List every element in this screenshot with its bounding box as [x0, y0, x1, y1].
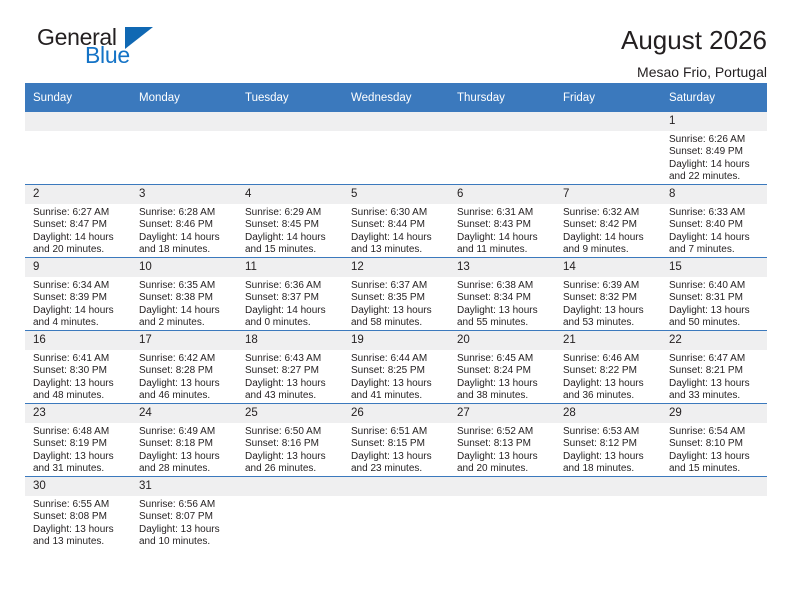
calendar-day-cell[interactable]: 11Sunrise: 6:36 AMSunset: 8:37 PMDayligh… [237, 258, 343, 331]
daylight-duration-line1: Daylight: 13 hours [351, 451, 443, 463]
daylight-duration-line2: and 36 minutes. [563, 390, 655, 402]
calendar-week-row: 1Sunrise: 6:26 AMSunset: 8:49 PMDaylight… [25, 112, 767, 185]
sunset-time: Sunset: 8:38 PM [139, 292, 231, 304]
sunset-time: Sunset: 8:31 PM [669, 292, 761, 304]
calendar-day-cell[interactable]: 3Sunrise: 6:28 AMSunset: 8:46 PMDaylight… [131, 185, 237, 258]
day-number: 17 [131, 331, 237, 350]
sunset-time: Sunset: 8:47 PM [33, 219, 125, 231]
sunset-time: Sunset: 8:18 PM [139, 438, 231, 450]
day-info: Sunrise: 6:47 AMSunset: 8:21 PMDaylight:… [661, 350, 767, 403]
sunset-time: Sunset: 8:19 PM [33, 438, 125, 450]
calendar-day-cell[interactable]: 27Sunrise: 6:52 AMSunset: 8:13 PMDayligh… [449, 404, 555, 477]
calendar-day-cell-empty [555, 112, 661, 185]
day-number: 14 [555, 258, 661, 277]
weekday-header-tuesday: Tuesday [237, 83, 343, 112]
calendar-day-cell[interactable]: 20Sunrise: 6:45 AMSunset: 8:24 PMDayligh… [449, 331, 555, 404]
sunset-time: Sunset: 8:43 PM [457, 219, 549, 231]
daylight-duration-line2: and 53 minutes. [563, 317, 655, 329]
calendar-week-row: 30Sunrise: 6:55 AMSunset: 8:08 PMDayligh… [25, 477, 767, 550]
sunset-time: Sunset: 8:13 PM [457, 438, 549, 450]
calendar-day-cell[interactable]: 5Sunrise: 6:30 AMSunset: 8:44 PMDaylight… [343, 185, 449, 258]
daylight-duration-line2: and 22 minutes. [669, 171, 761, 183]
weekday-header-thursday: Thursday [449, 83, 555, 112]
daylight-duration-line1: Daylight: 13 hours [351, 378, 443, 390]
day-number: 1 [661, 112, 767, 131]
calendar-day-cell[interactable]: 6Sunrise: 6:31 AMSunset: 8:43 PMDaylight… [449, 185, 555, 258]
sunrise-time: Sunrise: 6:28 AM [139, 207, 231, 219]
day-number: 28 [555, 404, 661, 423]
day-info: Sunrise: 6:31 AMSunset: 8:43 PMDaylight:… [449, 204, 555, 257]
daylight-duration-line1: Daylight: 13 hours [669, 451, 761, 463]
daylight-duration-line1: Daylight: 13 hours [245, 378, 337, 390]
day-number: 26 [343, 404, 449, 423]
sunset-time: Sunset: 8:22 PM [563, 365, 655, 377]
calendar-day-cell[interactable]: 23Sunrise: 6:48 AMSunset: 8:19 PMDayligh… [25, 404, 131, 477]
daylight-duration-line1: Daylight: 14 hours [669, 232, 761, 244]
sunset-time: Sunset: 8:39 PM [33, 292, 125, 304]
sunrise-time: Sunrise: 6:45 AM [457, 353, 549, 365]
day-number [343, 112, 449, 131]
sunset-time: Sunset: 8:28 PM [139, 365, 231, 377]
day-number [131, 112, 237, 131]
calendar-day-cell[interactable]: 18Sunrise: 6:43 AMSunset: 8:27 PMDayligh… [237, 331, 343, 404]
weekday-header-monday: Monday [131, 83, 237, 112]
daylight-duration-line1: Daylight: 13 hours [33, 378, 125, 390]
sunset-time: Sunset: 8:24 PM [457, 365, 549, 377]
day-info: Sunrise: 6:44 AMSunset: 8:25 PMDaylight:… [343, 350, 449, 403]
weekday-header-row: Sunday Monday Tuesday Wednesday Thursday… [25, 83, 767, 112]
calendar-day-cell[interactable]: 9Sunrise: 6:34 AMSunset: 8:39 PMDaylight… [25, 258, 131, 331]
general-blue-logo[interactable]: General Blue [25, 22, 165, 70]
sunrise-time: Sunrise: 6:41 AM [33, 353, 125, 365]
daylight-duration-line1: Daylight: 13 hours [563, 451, 655, 463]
day-info: Sunrise: 6:29 AMSunset: 8:45 PMDaylight:… [237, 204, 343, 257]
calendar-week-row: 9Sunrise: 6:34 AMSunset: 8:39 PMDaylight… [25, 258, 767, 331]
calendar-day-cell[interactable]: 30Sunrise: 6:55 AMSunset: 8:08 PMDayligh… [25, 477, 131, 550]
daylight-duration-line1: Daylight: 14 hours [245, 305, 337, 317]
daylight-duration-line2: and 2 minutes. [139, 317, 231, 329]
sunset-time: Sunset: 8:25 PM [351, 365, 443, 377]
sunrise-time: Sunrise: 6:39 AM [563, 280, 655, 292]
daylight-duration-line1: Daylight: 14 hours [245, 232, 337, 244]
calendar-day-cell-empty [661, 477, 767, 550]
day-info: Sunrise: 6:51 AMSunset: 8:15 PMDaylight:… [343, 423, 449, 476]
sunrise-time: Sunrise: 6:47 AM [669, 353, 761, 365]
sunrise-time: Sunrise: 6:56 AM [139, 499, 231, 511]
daylight-duration-line1: Daylight: 14 hours [351, 232, 443, 244]
day-info: Sunrise: 6:55 AMSunset: 8:08 PMDaylight:… [25, 496, 131, 549]
sunset-time: Sunset: 8:42 PM [563, 219, 655, 231]
day-number: 21 [555, 331, 661, 350]
sunrise-time: Sunrise: 6:54 AM [669, 426, 761, 438]
daylight-duration-line2: and 58 minutes. [351, 317, 443, 329]
daylight-duration-line1: Daylight: 13 hours [139, 524, 231, 536]
day-info: Sunrise: 6:53 AMSunset: 8:12 PMDaylight:… [555, 423, 661, 476]
daylight-duration-line2: and 20 minutes. [457, 463, 549, 475]
day-info: Sunrise: 6:32 AMSunset: 8:42 PMDaylight:… [555, 204, 661, 257]
page-title: August 2026 [621, 24, 767, 56]
daylight-duration-line1: Daylight: 14 hours [33, 232, 125, 244]
daylight-duration-line2: and 26 minutes. [245, 463, 337, 475]
daylight-duration-line2: and 7 minutes. [669, 244, 761, 256]
sunset-time: Sunset: 8:44 PM [351, 219, 443, 231]
daylight-duration-line2: and 0 minutes. [245, 317, 337, 329]
daylight-duration-line2: and 38 minutes. [457, 390, 549, 402]
day-info: Sunrise: 6:48 AMSunset: 8:19 PMDaylight:… [25, 423, 131, 476]
calendar-day-cell[interactable]: 1Sunrise: 6:26 AMSunset: 8:49 PMDaylight… [661, 112, 767, 185]
sunrise-time: Sunrise: 6:33 AM [669, 207, 761, 219]
day-info: Sunrise: 6:42 AMSunset: 8:28 PMDaylight:… [131, 350, 237, 403]
daylight-duration-line2: and 18 minutes. [563, 463, 655, 475]
day-number [449, 112, 555, 131]
daylight-duration-line2: and 31 minutes. [33, 463, 125, 475]
sunrise-time: Sunrise: 6:34 AM [33, 280, 125, 292]
day-info: Sunrise: 6:26 AMSunset: 8:49 PMDaylight:… [661, 131, 767, 184]
sunset-time: Sunset: 8:10 PM [669, 438, 761, 450]
day-number: 25 [237, 404, 343, 423]
day-info: Sunrise: 6:38 AMSunset: 8:34 PMDaylight:… [449, 277, 555, 330]
daylight-duration-line1: Daylight: 13 hours [139, 378, 231, 390]
calendar-day-cell[interactable]: 13Sunrise: 6:38 AMSunset: 8:34 PMDayligh… [449, 258, 555, 331]
day-info: Sunrise: 6:46 AMSunset: 8:22 PMDaylight:… [555, 350, 661, 403]
daylight-duration-line1: Daylight: 14 hours [669, 159, 761, 171]
calendar-day-cell[interactable]: 16Sunrise: 6:41 AMSunset: 8:30 PMDayligh… [25, 331, 131, 404]
day-info: Sunrise: 6:37 AMSunset: 8:35 PMDaylight:… [343, 277, 449, 330]
sunset-time: Sunset: 8:46 PM [139, 219, 231, 231]
day-number: 30 [25, 477, 131, 496]
daylight-duration-line1: Daylight: 14 hours [33, 305, 125, 317]
sunrise-time: Sunrise: 6:36 AM [245, 280, 337, 292]
daylight-duration-line2: and 23 minutes. [351, 463, 443, 475]
daylight-duration-line2: and 10 minutes. [139, 536, 231, 548]
daylight-duration-line1: Daylight: 13 hours [669, 378, 761, 390]
day-number: 8 [661, 185, 767, 204]
sunset-time: Sunset: 8:15 PM [351, 438, 443, 450]
daylight-duration-line1: Daylight: 13 hours [457, 378, 549, 390]
day-number: 6 [449, 185, 555, 204]
sunset-time: Sunset: 8:34 PM [457, 292, 549, 304]
day-info: Sunrise: 6:49 AMSunset: 8:18 PMDaylight:… [131, 423, 237, 476]
sunrise-time: Sunrise: 6:53 AM [563, 426, 655, 438]
day-number: 5 [343, 185, 449, 204]
daylight-duration-line2: and 15 minutes. [245, 244, 337, 256]
daylight-duration-line1: Daylight: 13 hours [33, 524, 125, 536]
sunrise-time: Sunrise: 6:44 AM [351, 353, 443, 365]
daylight-duration-line2: and 20 minutes. [33, 244, 125, 256]
calendar-day-cell-empty [237, 477, 343, 550]
sunset-time: Sunset: 8:37 PM [245, 292, 337, 304]
sunrise-time: Sunrise: 6:46 AM [563, 353, 655, 365]
daylight-duration-line1: Daylight: 13 hours [139, 451, 231, 463]
day-number: 22 [661, 331, 767, 350]
sunrise-time: Sunrise: 6:32 AM [563, 207, 655, 219]
daylight-duration-line1: Daylight: 14 hours [139, 305, 231, 317]
day-info: Sunrise: 6:52 AMSunset: 8:13 PMDaylight:… [449, 423, 555, 476]
day-number: 16 [25, 331, 131, 350]
day-number [661, 477, 767, 496]
day-info: Sunrise: 6:54 AMSunset: 8:10 PMDaylight:… [661, 423, 767, 476]
calendar-day-cell[interactable]: 2Sunrise: 6:27 AMSunset: 8:47 PMDaylight… [25, 185, 131, 258]
calendar-page: General Blue August 2026 Mesao Frio, Por… [0, 0, 792, 612]
day-number [555, 112, 661, 131]
sunset-time: Sunset: 8:30 PM [33, 365, 125, 377]
calendar-day-cell[interactable]: 8Sunrise: 6:33 AMSunset: 8:40 PMDaylight… [661, 185, 767, 258]
day-info: Sunrise: 6:45 AMSunset: 8:24 PMDaylight:… [449, 350, 555, 403]
page-subtitle: Mesao Frio, Portugal [621, 62, 767, 82]
weekday-header-saturday: Saturday [661, 83, 767, 112]
weekday-header-wednesday: Wednesday [343, 83, 449, 112]
sunrise-time: Sunrise: 6:29 AM [245, 207, 337, 219]
sunset-time: Sunset: 8:21 PM [669, 365, 761, 377]
calendar-day-cell[interactable]: 31Sunrise: 6:56 AMSunset: 8:07 PMDayligh… [131, 477, 237, 550]
day-info: Sunrise: 6:35 AMSunset: 8:38 PMDaylight:… [131, 277, 237, 330]
day-info: Sunrise: 6:43 AMSunset: 8:27 PMDaylight:… [237, 350, 343, 403]
calendar-day-cell[interactable]: 26Sunrise: 6:51 AMSunset: 8:15 PMDayligh… [343, 404, 449, 477]
calendar-day-cell[interactable]: 10Sunrise: 6:35 AMSunset: 8:38 PMDayligh… [131, 258, 237, 331]
page-header: General Blue August 2026 Mesao Frio, Por… [25, 0, 767, 80]
daylight-duration-line2: and 9 minutes. [563, 244, 655, 256]
calendar-day-cell[interactable]: 4Sunrise: 6:29 AMSunset: 8:45 PMDaylight… [237, 185, 343, 258]
daylight-duration-line2: and 15 minutes. [669, 463, 761, 475]
daylight-duration-line1: Daylight: 14 hours [139, 232, 231, 244]
sunrise-time: Sunrise: 6:52 AM [457, 426, 549, 438]
day-number: 20 [449, 331, 555, 350]
day-number: 15 [661, 258, 767, 277]
sunrise-time: Sunrise: 6:43 AM [245, 353, 337, 365]
day-info: Sunrise: 6:41 AMSunset: 8:30 PMDaylight:… [25, 350, 131, 403]
sunrise-time: Sunrise: 6:27 AM [33, 207, 125, 219]
day-number: 31 [131, 477, 237, 496]
day-number [343, 477, 449, 496]
daylight-duration-line2: and 50 minutes. [669, 317, 761, 329]
calendar-day-cell-empty [343, 477, 449, 550]
sunset-time: Sunset: 8:35 PM [351, 292, 443, 304]
day-info: Sunrise: 6:39 AMSunset: 8:32 PMDaylight:… [555, 277, 661, 330]
daylight-duration-line2: and 43 minutes. [245, 390, 337, 402]
calendar-day-cell-empty [449, 112, 555, 185]
sunset-time: Sunset: 8:07 PM [139, 511, 231, 523]
day-number: 4 [237, 185, 343, 204]
sunrise-time: Sunrise: 6:37 AM [351, 280, 443, 292]
day-number: 9 [25, 258, 131, 277]
day-number: 13 [449, 258, 555, 277]
sunrise-time: Sunrise: 6:35 AM [139, 280, 231, 292]
daylight-duration-line2: and 55 minutes. [457, 317, 549, 329]
sunrise-time: Sunrise: 6:50 AM [245, 426, 337, 438]
daylight-duration-line1: Daylight: 13 hours [33, 451, 125, 463]
calendar-day-cell-empty [237, 112, 343, 185]
calendar-day-cell[interactable]: 21Sunrise: 6:46 AMSunset: 8:22 PMDayligh… [555, 331, 661, 404]
day-info: Sunrise: 6:50 AMSunset: 8:16 PMDaylight:… [237, 423, 343, 476]
day-number: 10 [131, 258, 237, 277]
calendar-day-cell[interactable]: 25Sunrise: 6:50 AMSunset: 8:16 PMDayligh… [237, 404, 343, 477]
day-number: 27 [449, 404, 555, 423]
sunrise-time: Sunrise: 6:40 AM [669, 280, 761, 292]
daylight-duration-line1: Daylight: 14 hours [563, 232, 655, 244]
sunrise-time: Sunrise: 6:51 AM [351, 426, 443, 438]
calendar-day-cell-empty [131, 112, 237, 185]
sunset-time: Sunset: 8:45 PM [245, 219, 337, 231]
calendar-week-row: 16Sunrise: 6:41 AMSunset: 8:30 PMDayligh… [25, 331, 767, 404]
sunset-time: Sunset: 8:08 PM [33, 511, 125, 523]
day-info: Sunrise: 6:34 AMSunset: 8:39 PMDaylight:… [25, 277, 131, 330]
sunrise-time: Sunrise: 6:49 AM [139, 426, 231, 438]
daylight-duration-line2: and 28 minutes. [139, 463, 231, 475]
day-info: Sunrise: 6:28 AMSunset: 8:46 PMDaylight:… [131, 204, 237, 257]
daylight-duration-line2: and 33 minutes. [669, 390, 761, 402]
day-number [237, 477, 343, 496]
day-number: 23 [25, 404, 131, 423]
calendar-day-cell[interactable]: 19Sunrise: 6:44 AMSunset: 8:25 PMDayligh… [343, 331, 449, 404]
day-info: Sunrise: 6:30 AMSunset: 8:44 PMDaylight:… [343, 204, 449, 257]
calendar-day-cell[interactable]: 22Sunrise: 6:47 AMSunset: 8:21 PMDayligh… [661, 331, 767, 404]
daylight-duration-line1: Daylight: 13 hours [351, 305, 443, 317]
calendar-week-row: 23Sunrise: 6:48 AMSunset: 8:19 PMDayligh… [25, 404, 767, 477]
calendar-day-cell[interactable]: 14Sunrise: 6:39 AMSunset: 8:32 PMDayligh… [555, 258, 661, 331]
daylight-duration-line1: Daylight: 13 hours [563, 378, 655, 390]
calendar-day-cell[interactable]: 29Sunrise: 6:54 AMSunset: 8:10 PMDayligh… [661, 404, 767, 477]
calendar-day-cell[interactable]: 17Sunrise: 6:42 AMSunset: 8:28 PMDayligh… [131, 331, 237, 404]
sunrise-time: Sunrise: 6:30 AM [351, 207, 443, 219]
day-info: Sunrise: 6:56 AMSunset: 8:07 PMDaylight:… [131, 496, 237, 549]
sunrise-time: Sunrise: 6:31 AM [457, 207, 549, 219]
daylight-duration-line1: Daylight: 13 hours [245, 451, 337, 463]
day-number: 2 [25, 185, 131, 204]
day-number: 24 [131, 404, 237, 423]
daylight-duration-line2: and 46 minutes. [139, 390, 231, 402]
day-info: Sunrise: 6:40 AMSunset: 8:31 PMDaylight:… [661, 277, 767, 330]
sunset-time: Sunset: 8:32 PM [563, 292, 655, 304]
sunrise-time: Sunrise: 6:48 AM [33, 426, 125, 438]
sunset-time: Sunset: 8:12 PM [563, 438, 655, 450]
title-block: August 2026 Mesao Frio, Portugal [621, 22, 767, 82]
daylight-duration-line2: and 4 minutes. [33, 317, 125, 329]
day-number: 7 [555, 185, 661, 204]
calendar-day-cell-empty [449, 477, 555, 550]
daylight-duration-line1: Daylight: 13 hours [457, 451, 549, 463]
sunset-time: Sunset: 8:49 PM [669, 146, 761, 158]
daylight-duration-line2: and 18 minutes. [139, 244, 231, 256]
sunrise-time: Sunrise: 6:42 AM [139, 353, 231, 365]
daylight-duration-line2: and 13 minutes. [351, 244, 443, 256]
day-info: Sunrise: 6:27 AMSunset: 8:47 PMDaylight:… [25, 204, 131, 257]
day-number: 29 [661, 404, 767, 423]
daylight-duration-line2: and 41 minutes. [351, 390, 443, 402]
calendar-body: 1Sunrise: 6:26 AMSunset: 8:49 PMDaylight… [25, 112, 767, 549]
sunrise-time: Sunrise: 6:38 AM [457, 280, 549, 292]
daylight-duration-line1: Daylight: 13 hours [457, 305, 549, 317]
sunset-time: Sunset: 8:16 PM [245, 438, 337, 450]
day-number: 12 [343, 258, 449, 277]
day-info: Sunrise: 6:36 AMSunset: 8:37 PMDaylight:… [237, 277, 343, 330]
weekday-header-friday: Friday [555, 83, 661, 112]
day-number: 18 [237, 331, 343, 350]
calendar-day-cell-empty [555, 477, 661, 550]
calendar-day-cell[interactable]: 7Sunrise: 6:32 AMSunset: 8:42 PMDaylight… [555, 185, 661, 258]
daylight-duration-line2: and 13 minutes. [33, 536, 125, 548]
calendar-week-row: 2Sunrise: 6:27 AMSunset: 8:47 PMDaylight… [25, 185, 767, 258]
day-number [25, 112, 131, 131]
calendar-table: Sunday Monday Tuesday Wednesday Thursday… [25, 83, 767, 549]
daylight-duration-line2: and 48 minutes. [33, 390, 125, 402]
day-number [555, 477, 661, 496]
calendar-day-cell[interactable]: 28Sunrise: 6:53 AMSunset: 8:12 PMDayligh… [555, 404, 661, 477]
daylight-duration-line2: and 11 minutes. [457, 244, 549, 256]
day-info: Sunrise: 6:33 AMSunset: 8:40 PMDaylight:… [661, 204, 767, 257]
daylight-duration-line1: Daylight: 13 hours [563, 305, 655, 317]
day-number [237, 112, 343, 131]
day-number: 3 [131, 185, 237, 204]
day-number: 19 [343, 331, 449, 350]
calendar-day-cell[interactable]: 24Sunrise: 6:49 AMSunset: 8:18 PMDayligh… [131, 404, 237, 477]
day-number [449, 477, 555, 496]
calendar-day-cell-empty [343, 112, 449, 185]
sunrise-time: Sunrise: 6:26 AM [669, 134, 761, 146]
calendar-day-cell[interactable]: 15Sunrise: 6:40 AMSunset: 8:31 PMDayligh… [661, 258, 767, 331]
weekday-header-sunday: Sunday [25, 83, 131, 112]
sunset-time: Sunset: 8:27 PM [245, 365, 337, 377]
sunset-time: Sunset: 8:40 PM [669, 219, 761, 231]
sunrise-time: Sunrise: 6:55 AM [33, 499, 125, 511]
day-number: 11 [237, 258, 343, 277]
calendar-day-cell[interactable]: 12Sunrise: 6:37 AMSunset: 8:35 PMDayligh… [343, 258, 449, 331]
daylight-duration-line1: Daylight: 13 hours [669, 305, 761, 317]
calendar-day-cell-empty [25, 112, 131, 185]
daylight-duration-line1: Daylight: 14 hours [457, 232, 549, 244]
logo-text-blue: Blue [85, 44, 130, 67]
